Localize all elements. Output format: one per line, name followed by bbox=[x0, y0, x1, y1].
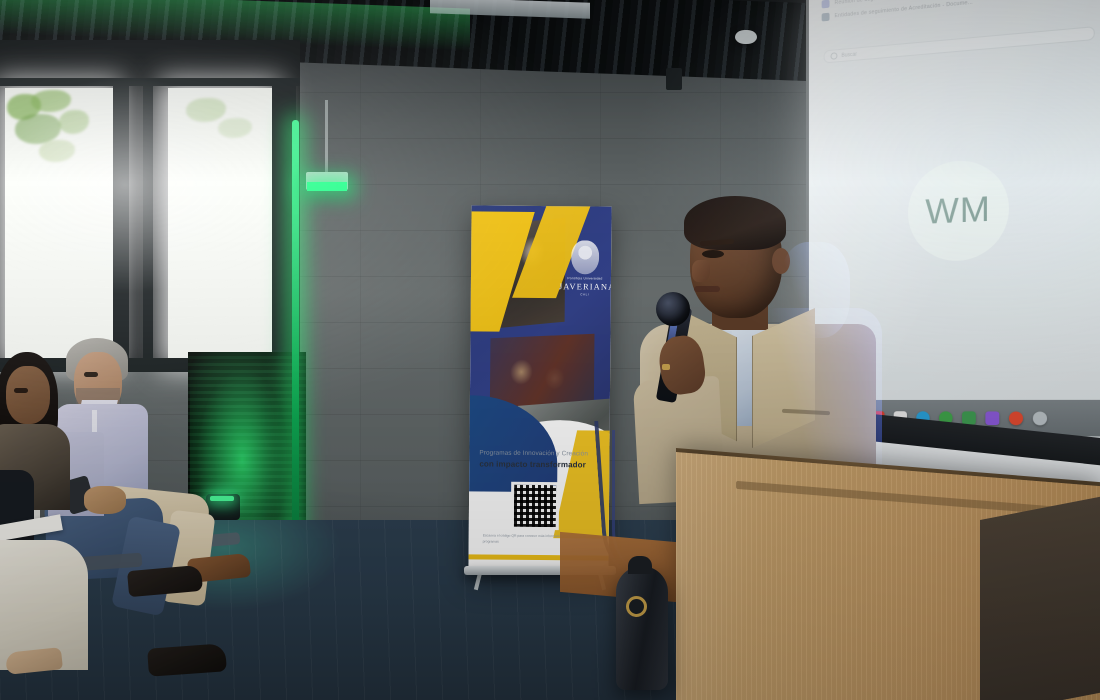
rollup-banner: Pontificia Universidad JAVERIANA CALI Pr… bbox=[468, 205, 611, 574]
banner-tagline-main: con impacto transformador bbox=[479, 459, 609, 469]
banner-brand: JAVERIANA bbox=[559, 281, 611, 291]
window-foliage-right bbox=[168, 88, 272, 360]
window-wall bbox=[0, 40, 300, 370]
window-mullion-inner bbox=[143, 84, 153, 366]
speaker-mouth bbox=[694, 286, 720, 292]
attendee-eye bbox=[14, 388, 28, 393]
smoke-detector-icon bbox=[735, 30, 757, 44]
javeriana-crest-icon bbox=[571, 240, 599, 274]
microphone-icon bbox=[656, 292, 690, 326]
qr-code-icon bbox=[511, 482, 559, 530]
attendee-face bbox=[6, 366, 50, 424]
window-mullion-center bbox=[113, 84, 129, 366]
photo-scene: Reunión de seguimiento - Teams Entidades… bbox=[0, 0, 1100, 700]
wall-box-icon bbox=[666, 68, 682, 90]
window-foliage bbox=[5, 88, 113, 360]
banner-tagline-top: Programas de Innovación y Creación bbox=[479, 449, 603, 457]
speaker-nose bbox=[692, 260, 710, 282]
window-header bbox=[0, 78, 300, 86]
attendee-black-shoe-front bbox=[147, 643, 227, 676]
attendee-eye bbox=[84, 372, 98, 377]
window-pane-right bbox=[168, 88, 272, 360]
device-ring-icon bbox=[626, 596, 647, 617]
window-pane-left bbox=[5, 88, 113, 360]
banner-brand-sub: CALI bbox=[561, 292, 609, 296]
speaker-ring bbox=[662, 364, 670, 370]
exit-light-icon bbox=[306, 172, 348, 190]
attendee-hand bbox=[84, 486, 126, 514]
microphone-base-device bbox=[616, 566, 668, 690]
green-led-strip bbox=[292, 120, 299, 550]
speaker-eye bbox=[702, 250, 724, 258]
podium-side-panel bbox=[980, 496, 1100, 700]
exit-light-stem bbox=[325, 100, 328, 174]
banner-brand-small: Pontificia Universidad bbox=[561, 276, 609, 280]
